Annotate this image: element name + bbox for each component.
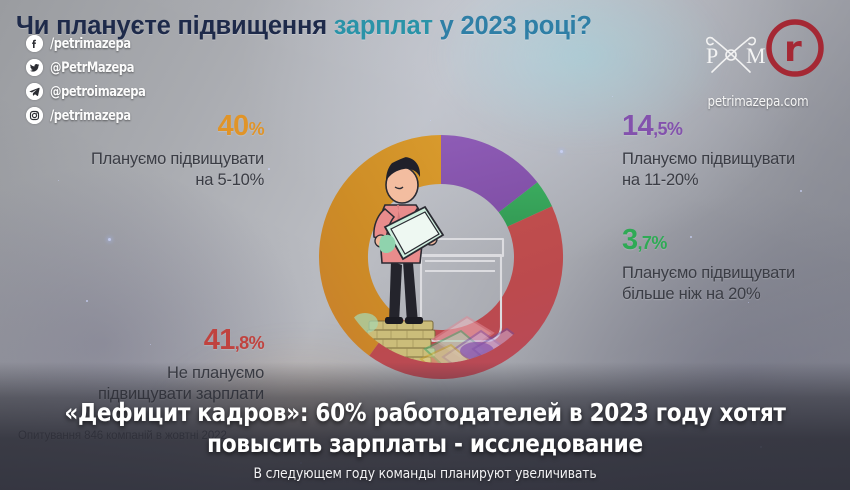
stat-value-145: 14,5% — [622, 112, 842, 141]
social-row-facebook[interactable]: /petrimazepa — [26, 33, 158, 54]
social-row-twitter[interactable]: @PetrMazepa — [26, 57, 158, 78]
instagram-icon — [26, 107, 43, 124]
stat-whole-37: 3 — [622, 224, 638, 256]
brand-mark-svg: P M r — [688, 18, 828, 86]
telegram-icon — [26, 83, 43, 100]
stat-frac-40: % — [249, 119, 264, 139]
facebook-icon — [26, 35, 43, 52]
stat-block-37: 3,7% Плануємо підвищувати більше ніж на … — [622, 226, 842, 305]
social-handle-facebook: /petrimazepa — [50, 36, 131, 52]
title-part-teal: зарплат — [334, 12, 440, 40]
scattered-banknotes — [421, 317, 531, 363]
donut-chart — [297, 113, 585, 401]
stat-whole-145: 14 — [622, 110, 653, 142]
stat-value-37: 3,7% — [622, 226, 842, 255]
stat-value-418: 41,8% — [16, 326, 264, 355]
svg-text:r: r — [784, 29, 802, 70]
social-handle-twitter: @PetrMazepa — [50, 60, 134, 76]
twitter-icon — [26, 59, 43, 76]
stat-desc-145-line1: Плануємо підвищувати — [622, 149, 842, 170]
stat-desc-37: Плануємо підвищувати більше ніж на 20% — [622, 263, 842, 305]
stat-whole-40: 40 — [218, 110, 249, 142]
caption-block: «Дефицит кадров»: 60% работодателей в 20… — [0, 398, 850, 482]
caption-subtitle: В следующем году команды планируют увели… — [21, 466, 829, 482]
stat-frac-418: ,8% — [235, 333, 264, 353]
caption-headline-line1: «Дефицит кадров»: 60% работодателей в 20… — [44, 398, 806, 429]
svg-text:P: P — [706, 43, 718, 68]
stat-frac-37: ,7% — [638, 233, 667, 253]
illustration-svg — [335, 151, 547, 363]
svg-text:M: M — [746, 43, 766, 68]
social-handles-list: /petrimazepa @PetrMazepa @petroimazepa /… — [26, 33, 158, 126]
person-figure — [374, 157, 443, 324]
infographic-canvas: Чи плануєте підвищення зарплат у 2023 ро… — [0, 0, 850, 490]
brand-url: petrimazepa.com — [692, 94, 824, 110]
social-row-telegram[interactable]: @petroimazepa — [26, 81, 158, 102]
brand-logo[interactable]: P M r petrimazepa.com — [688, 18, 828, 110]
stat-desc-145: Плануємо підвищувати на 11-20% — [622, 149, 842, 191]
center-illustration — [335, 151, 547, 363]
stat-desc-40-line1: Плануємо підвищувати — [16, 149, 264, 170]
social-row-instagram[interactable]: /petrimazepa — [26, 105, 158, 126]
stat-frac-145: ,5% — [653, 119, 682, 139]
stat-desc-40: Плануємо підвищувати на 5-10% — [16, 149, 264, 191]
social-handle-telegram: @petroimazepa — [50, 84, 145, 100]
stat-block-145: 14,5% Плануємо підвищувати на 11-20% — [622, 112, 842, 191]
stat-whole-418: 41 — [204, 324, 235, 356]
social-handle-instagram: /petrimazepa — [50, 108, 131, 124]
stat-desc-40-line2: на 5-10% — [16, 170, 264, 191]
stat-desc-145-line2: на 11-20% — [622, 170, 842, 191]
stat-desc-37-line2: більше ніж на 20% — [622, 284, 842, 305]
caption-headline-line2: повысить зарплаты - исследование — [44, 429, 806, 460]
caption-headline: «Дефицит кадров»: 60% работодателей в 20… — [17, 398, 833, 459]
title-part-blue: у 2023 році? — [440, 12, 592, 40]
stat-desc-37-line1: Плануємо підвищувати — [622, 263, 842, 284]
